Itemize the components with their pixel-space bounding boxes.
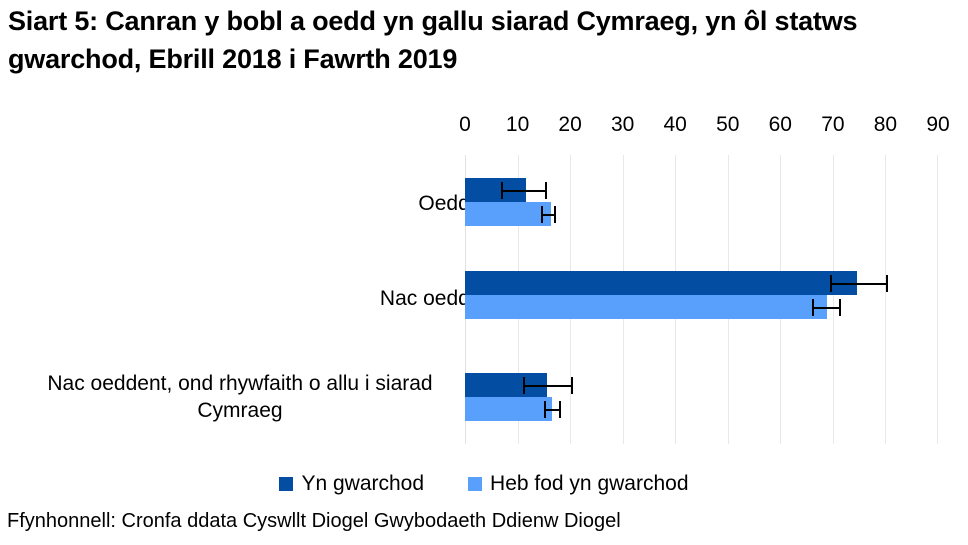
x-tick-label: 60: [769, 113, 792, 137]
x-tick-label: 30: [611, 113, 634, 137]
legend: Yn gwarchod Heb fod yn gwarchod: [0, 472, 968, 496]
error-bar-0-0: [501, 182, 547, 199]
error-bar-cap-high: [571, 377, 573, 394]
error-bar-0-1: [830, 275, 888, 292]
legend-label: Yn gwarchod: [301, 472, 424, 496]
legend-swatch-icon: [279, 477, 293, 491]
gridline-90: [937, 155, 938, 444]
page-title: Siart 5: Canran y bobl a oedd yn gallu s…: [8, 2, 960, 78]
x-tick-label: 20: [558, 113, 581, 137]
error-bar-1-1: [812, 299, 841, 316]
error-bar-line: [830, 283, 888, 285]
error-bar-cap-high: [839, 299, 841, 316]
bar-1-1: [465, 295, 827, 319]
source-note: Ffynhonnell: Cronfa ddata Cyswllt Diogel…: [7, 508, 621, 534]
x-tick-label: 0: [459, 113, 471, 137]
x-tick-label: 90: [926, 113, 949, 137]
error-bar-cap-high: [559, 401, 561, 418]
error-bar-cap-high: [886, 275, 888, 292]
legend-label: Heb fod yn gwarchod: [490, 472, 688, 496]
legend-swatch-icon: [468, 477, 482, 491]
error-bar-cap-high: [554, 206, 556, 223]
legend-item-yn-gwarchod[interactable]: Yn gwarchod: [279, 472, 424, 496]
x-tick-label: 80: [874, 113, 897, 137]
bar-1-0: [465, 202, 551, 226]
error-bar-line: [523, 385, 573, 387]
x-axis-tick-labels: 0 10 20 30 40 50 60 70 80 90: [465, 113, 938, 139]
x-tick-label: 40: [664, 113, 687, 137]
category-label-nac-oeddent-rhywfaith: Nac oeddent, ond rhywfaith o allu i siar…: [15, 370, 465, 424]
x-tick-label: 70: [821, 113, 844, 137]
gridline-80: [885, 155, 886, 444]
plot-area: [465, 155, 938, 444]
x-tick-label: 50: [716, 113, 739, 137]
legend-item-heb-fod-yn-gwarchod[interactable]: Heb fod yn gwarchod: [468, 472, 688, 496]
error-bar-1-2: [544, 401, 561, 418]
error-bar-line: [812, 307, 841, 309]
bar-1-2: [465, 397, 552, 421]
error-bar-0-2: [523, 377, 573, 394]
error-bar-line: [501, 190, 547, 192]
error-bar-1-0: [541, 206, 556, 223]
error-bar-cap-high: [545, 182, 547, 199]
bar-0-1: [465, 271, 857, 295]
x-tick-label: 10: [506, 113, 529, 137]
